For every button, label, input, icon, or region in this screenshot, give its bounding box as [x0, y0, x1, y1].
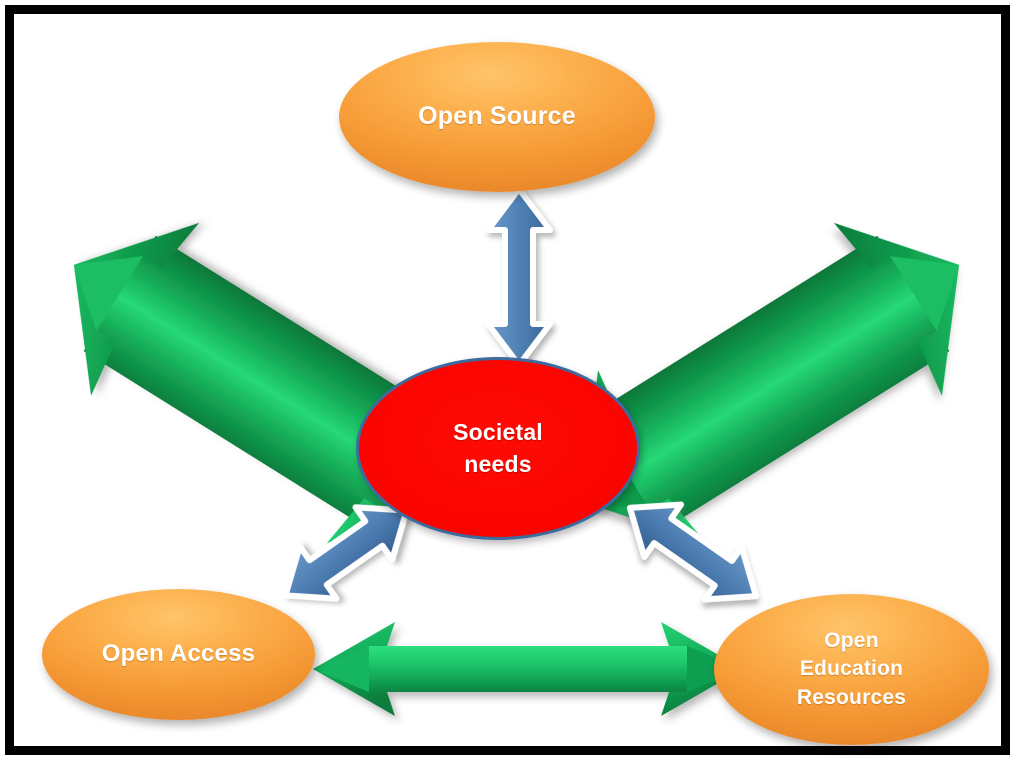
connector-open-education-resources-societal-needs: [598, 480, 788, 625]
connector-open-access-open-education-resources: [311, 614, 745, 736]
node-societal-needs[interactable]: Societal needs: [356, 357, 640, 540]
node-open-education-resources-line-1: Open: [824, 629, 878, 652]
node-societal-needs-label: Societal needs: [453, 417, 543, 479]
node-societal-needs-line-2: needs: [464, 451, 531, 477]
node-open-education-resources-line-2: Education: [800, 657, 903, 680]
node-open-source[interactable]: Open Source: [339, 42, 655, 192]
diagram-canvas: Open Source Societal needs Open Access O…: [0, 0, 1024, 770]
node-open-education-resources-line-3: Resources: [797, 686, 906, 709]
diagram-stage: Open Source Societal needs Open Access O…: [28, 28, 1015, 760]
node-open-access[interactable]: Open Access: [42, 589, 315, 720]
diagram-frame: Open Source Societal needs Open Access O…: [5, 5, 1010, 755]
node-open-education-resources[interactable]: Open Education Resources: [714, 594, 989, 745]
node-open-source-label: Open Source: [418, 100, 576, 134]
node-open-access-label: Open Access: [102, 638, 255, 670]
node-open-education-resources-label: Open Education Resources: [797, 627, 906, 712]
connector-open-source-societal-needs: [483, 186, 555, 368]
node-societal-needs-line-1: Societal: [453, 419, 543, 445]
